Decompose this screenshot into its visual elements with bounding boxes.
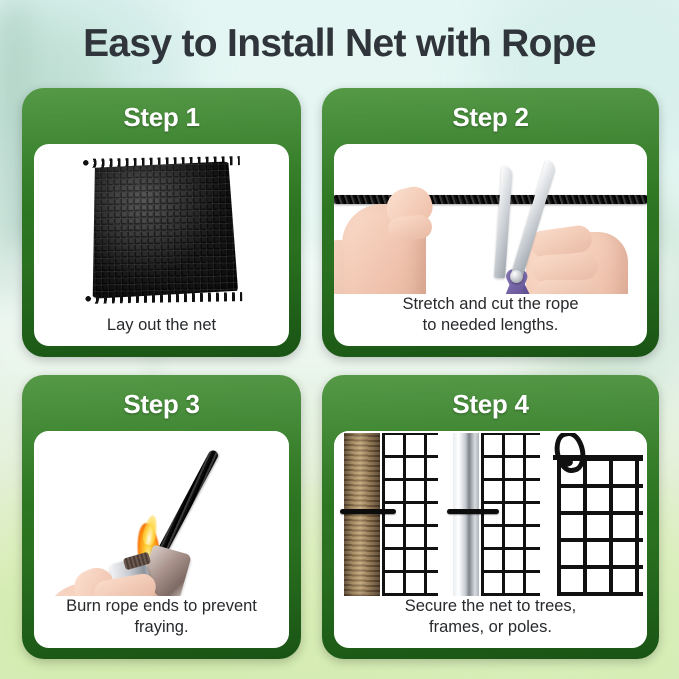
step-2-illustration-cut-rope bbox=[334, 144, 647, 294]
step-4-header: Step 4 bbox=[322, 375, 659, 431]
step-card-1: Step 1 Lay out the net bbox=[22, 88, 301, 357]
net-corner-loop bbox=[543, 433, 643, 596]
step-3-panel: Burn rope ends to prevent fraying. bbox=[34, 431, 289, 648]
metal-pole-icon bbox=[453, 433, 479, 596]
scissors-pivot-icon bbox=[510, 270, 523, 283]
step-2-caption: Stretch and cut the rope to needed lengt… bbox=[334, 294, 647, 346]
scene-mounting-options bbox=[334, 431, 647, 596]
step-card-2: Step 2 bbox=[322, 88, 659, 357]
step-2-panel: Stretch and cut the rope to needed lengt… bbox=[334, 144, 647, 346]
step-3-illustration-burn-rope bbox=[34, 431, 289, 596]
rope-icon bbox=[334, 195, 647, 204]
scissors-blade-2-icon bbox=[494, 166, 513, 278]
step-card-4: Step 4 bbox=[322, 375, 659, 659]
right-hand-finger-3 bbox=[534, 280, 598, 294]
zip-tie-icon bbox=[447, 509, 499, 514]
step-4-illustration-mounting bbox=[334, 431, 647, 596]
step-4-panel: Secure the net to trees, frames, or pole… bbox=[334, 431, 647, 648]
step-1-caption: Lay out the net bbox=[34, 315, 289, 346]
tree-trunk-icon bbox=[344, 433, 380, 596]
net-mesh-icon bbox=[481, 433, 541, 596]
step-3-caption: Burn rope ends to prevent fraying. bbox=[34, 596, 289, 648]
page-title: Easy to Install Net with Rope bbox=[0, 20, 679, 68]
step-4-caption: Secure the net to trees, frames, or pole… bbox=[334, 596, 647, 648]
net-mesh-icon bbox=[557, 455, 643, 596]
mesh-net-icon bbox=[85, 161, 237, 299]
mount-on-tree bbox=[338, 433, 438, 596]
step-card-3: Step 3 Burn ro bbox=[22, 375, 301, 659]
rope-strand-icon bbox=[155, 449, 220, 560]
infographic-canvas: Easy to Install Net with Rope Step 1 Lay… bbox=[0, 0, 679, 679]
step-1-illustration-net-square bbox=[34, 144, 289, 315]
step-3-header: Step 3 bbox=[22, 375, 301, 431]
step-2-header: Step 2 bbox=[322, 88, 659, 144]
scene-cut-rope bbox=[334, 144, 647, 294]
step-1-header: Step 1 bbox=[22, 88, 301, 144]
scene-burn-rope bbox=[34, 431, 289, 596]
net-body-icon bbox=[85, 161, 237, 299]
net-mesh-icon bbox=[382, 433, 438, 596]
left-hand-finger bbox=[387, 214, 433, 242]
step-1-panel: Lay out the net bbox=[34, 144, 289, 346]
zip-tie-icon bbox=[340, 509, 396, 514]
right-hand-finger-2 bbox=[531, 252, 599, 284]
mount-on-pole bbox=[441, 433, 541, 596]
